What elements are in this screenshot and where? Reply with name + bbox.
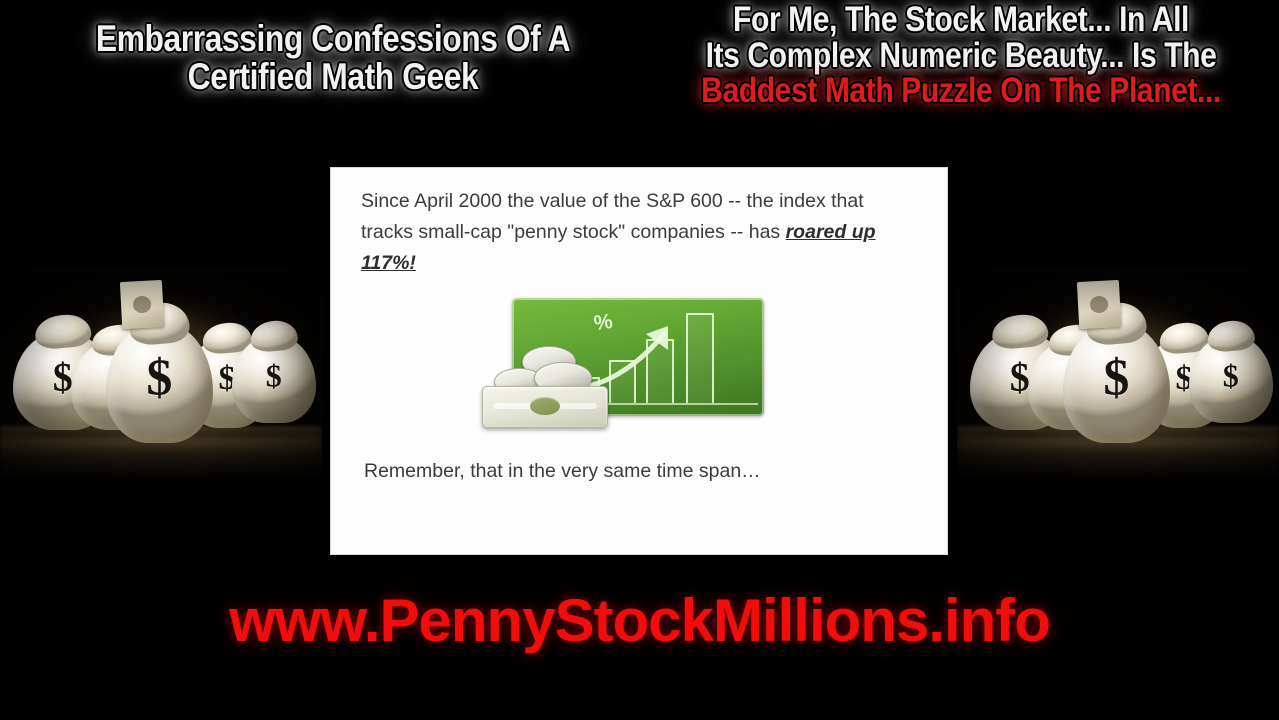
- slide-body-text: Since April 2000 the value of the S&P 60…: [361, 186, 921, 279]
- slide-footer-text: Remember, that in the very same time spa…: [364, 460, 761, 483]
- banknote-stripe: [493, 403, 597, 409]
- headline-left: Embarrassing Confessions Of A Certified …: [71, 20, 596, 95]
- money-growth-chart-graphic: %: [476, 298, 766, 433]
- headline-right-line-2: Its Complex Numeric Beauty... Is The: [688, 38, 1235, 74]
- headline-left-line-1: Embarrassing Confessions Of A: [71, 20, 596, 58]
- money-bags-image-left: $ $ $ $ $: [0, 268, 322, 481]
- headline-right-line-1: For Me, The Stock Market... In All: [688, 2, 1235, 38]
- headline-right: For Me, The Stock Market... In All Its C…: [688, 2, 1235, 109]
- slide-card: Since April 2000 the value of the S&P 60…: [331, 168, 947, 554]
- headline-right-line-3: Baddest Math Puzzle On The Planet...: [688, 73, 1235, 109]
- site-url-text: www.PennyStockMillions.info: [0, 586, 1279, 655]
- banknote-stack: [482, 386, 608, 428]
- photo-vignette: [0, 268, 322, 481]
- slideshow-frame: Embarrassing Confessions Of A Certified …: [0, 0, 1279, 720]
- photo-vignette: [957, 268, 1279, 481]
- headline-left-line-2: Certified Math Geek: [71, 58, 596, 96]
- money-bags-image-right: $ $ $ $ $: [957, 268, 1279, 481]
